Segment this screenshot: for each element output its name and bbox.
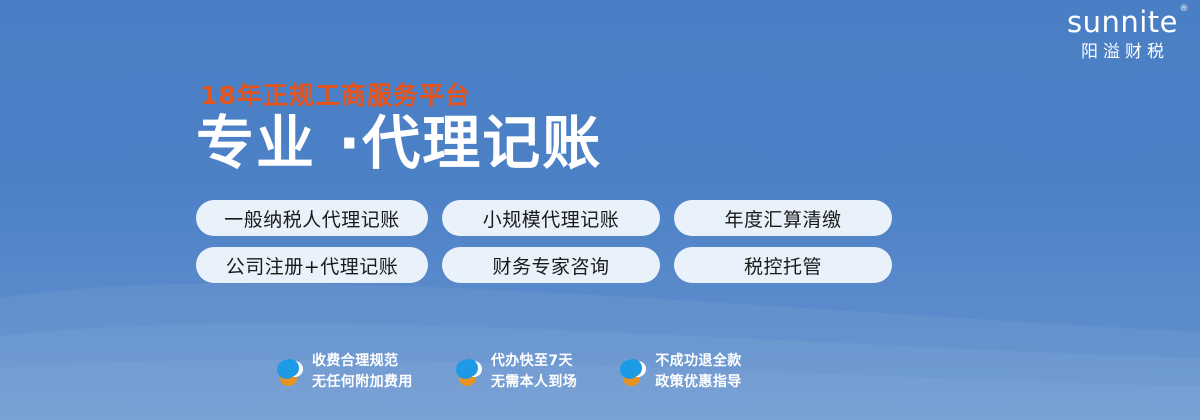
service-pill-small-scale[interactable]: 小规模代理记账: [442, 200, 660, 236]
feature-item-pricing: 收费合理规范 无任何附加费用: [276, 351, 413, 392]
service-pill-row-1: 一般纳税人代理记账 小规模代理记账 年度汇算清缴: [196, 200, 906, 236]
service-pill-annual-settlement[interactable]: 年度汇算清缴: [674, 200, 892, 236]
feature-line-2: 无需本人到场: [491, 372, 577, 392]
coin-cup-icon: [455, 355, 483, 389]
logo-chinese-name: 阳溢财税: [1067, 44, 1178, 61]
feature-line-1: 代办快至7天: [491, 351, 577, 371]
logo-wordmark: sunnite ®: [1067, 8, 1178, 37]
service-pill-general-taxpayer[interactable]: 一般纳税人代理记账: [196, 200, 428, 236]
brand-logo[interactable]: sunnite ® 阳溢财税: [1067, 8, 1178, 61]
promo-banner: sunnite ® 阳溢财税 18年正规工商服务平台 专业 ·代理记账 一般纳税…: [0, 0, 1200, 420]
feature-text-speed: 代办快至7天 无需本人到场: [491, 351, 577, 392]
logo-wordmark-text: sunnite: [1067, 5, 1178, 39]
feature-line-2: 无任何附加费用: [312, 372, 413, 392]
coin-cup-icon: [619, 355, 647, 389]
service-pill-group: 一般纳税人代理记账 小规模代理记账 年度汇算清缴 公司注册+代理记账 财务专家咨…: [196, 200, 906, 294]
service-pill-company-registration[interactable]: 公司注册+代理记账: [196, 247, 428, 283]
hero-headline: 专业 ·代理记账: [196, 110, 602, 177]
feature-line-1: 不成功退全款: [655, 351, 741, 371]
feature-item-guarantee: 不成功退全款 政策优惠指导: [619, 351, 741, 392]
service-pill-row-2: 公司注册+代理记账 财务专家咨询 税控托管: [196, 247, 906, 283]
service-pill-finance-consulting[interactable]: 财务专家咨询: [442, 247, 660, 283]
coin-cup-icon: [276, 355, 304, 389]
feature-item-speed: 代办快至7天 无需本人到场: [455, 351, 577, 392]
feature-text-pricing: 收费合理规范 无任何附加费用: [312, 351, 413, 392]
feature-list: 收费合理规范 无任何附加费用 代办快至7天 无需本人到场: [276, 351, 742, 392]
service-pill-tax-control-hosting[interactable]: 税控托管: [674, 247, 892, 283]
hero-eyebrow: 18年正规工商服务平台: [200, 76, 471, 112]
feature-line-2: 政策优惠指导: [655, 372, 741, 392]
feature-line-1: 收费合理规范: [312, 351, 413, 371]
feature-text-guarantee: 不成功退全款 政策优惠指导: [655, 351, 741, 392]
registered-trademark-icon: ®: [1180, 5, 1190, 14]
